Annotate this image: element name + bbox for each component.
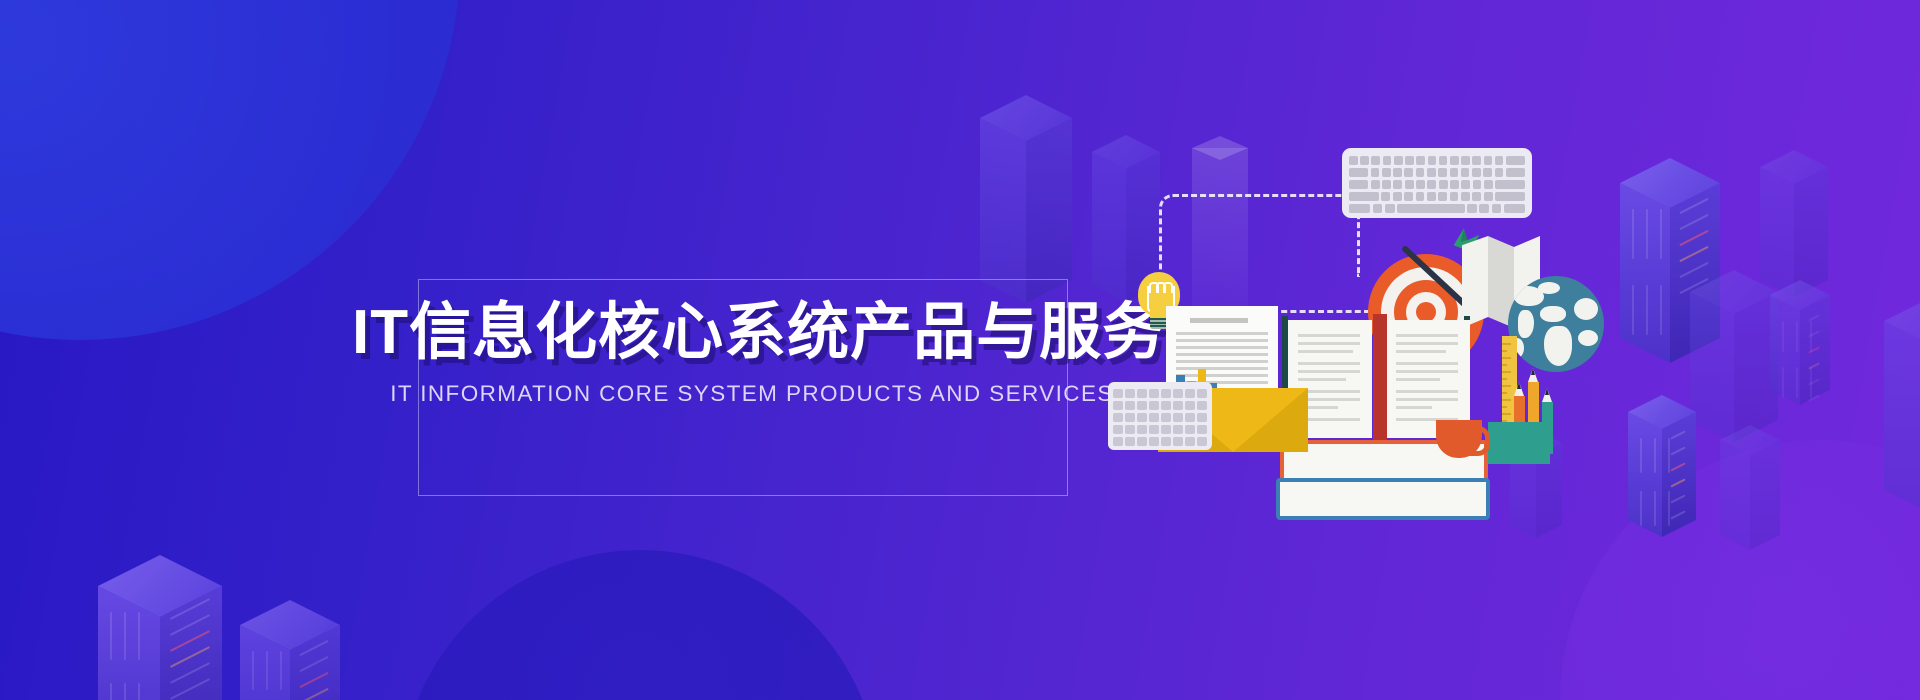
keyboard-icon-small (1108, 382, 1212, 450)
isometric-building (1628, 395, 1696, 554)
background-tower (1192, 148, 1248, 318)
book-stack-item (1276, 478, 1490, 520)
hero-illustration (1110, 120, 1570, 470)
page-title: IT信息化核心系统产品与服务 (352, 300, 1152, 365)
isometric-building (240, 600, 340, 700)
dashed-connector-icon (1159, 194, 1360, 277)
isometric-building (1720, 425, 1780, 565)
title-block: IT信息化核心系统产品与服务 IT INFORMATION CORE SYSTE… (352, 300, 1152, 407)
hero-banner: IT信息化核心系统产品与服务 IT INFORMATION CORE SYSTE… (0, 0, 1920, 700)
pencil-holder-icon (1488, 422, 1550, 464)
coffee-cup-icon (1436, 420, 1488, 458)
isometric-building (1884, 290, 1920, 552)
isometric-building (1770, 280, 1830, 420)
page-subtitle: IT INFORMATION CORE SYSTEM PRODUCTS AND … (352, 381, 1152, 407)
keyboard-icon (1342, 148, 1532, 218)
globe-icon (1508, 276, 1604, 372)
isometric-building (98, 555, 222, 700)
